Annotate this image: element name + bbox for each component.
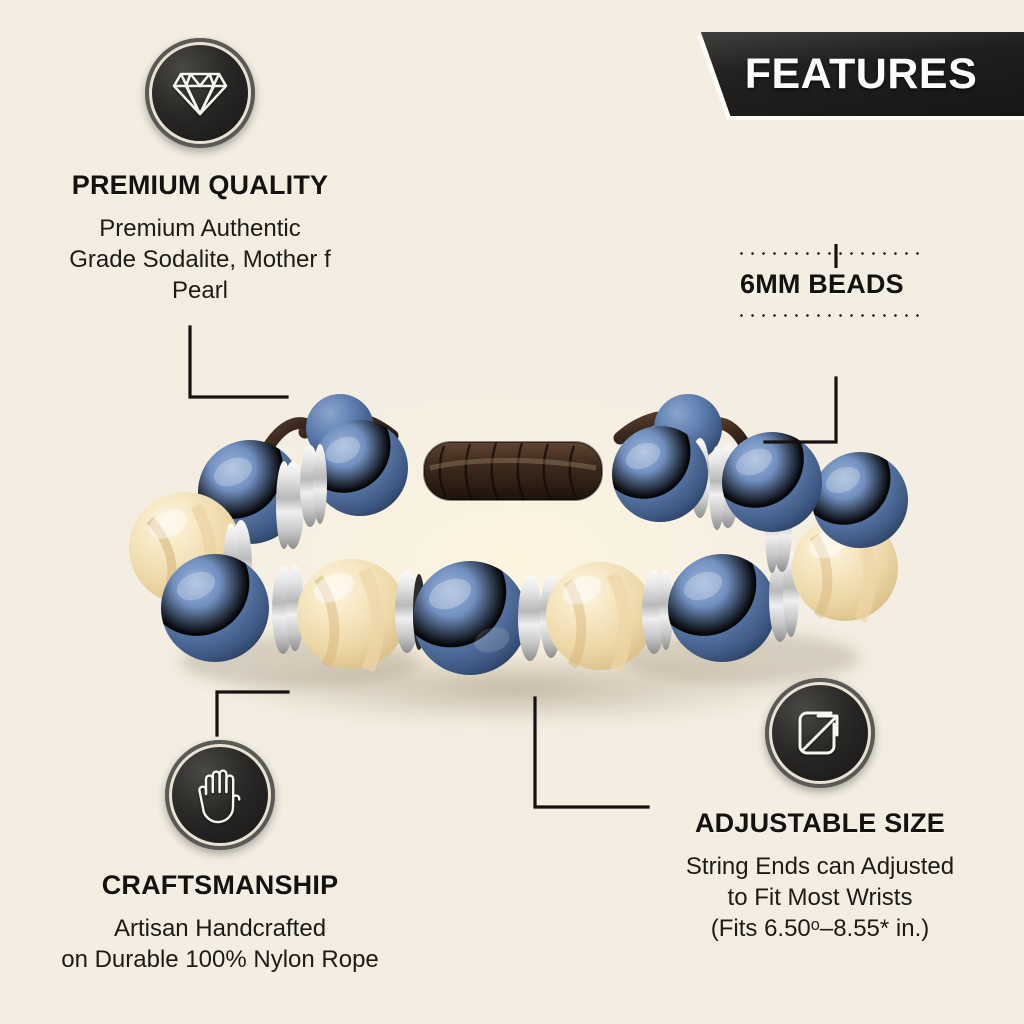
feature-craftsmanship-title: CRAFTSMANSHIP: [0, 870, 440, 901]
feature-premium-quality: PREMIUM QUALITY Premium Authentic Grade …: [0, 38, 400, 307]
feature-beads-title: 6MM BEADS: [740, 269, 956, 300]
bracelet-beads: [129, 420, 908, 675]
features-banner: FEATURES: [672, 32, 1024, 116]
feature-craftsmanship: CRAFTSMANSHIP Artisan Handcrafted on Dur…: [0, 740, 440, 975]
feature-adjustable-body: String Ends can Adjusted to Fit Most Wri…: [616, 851, 1024, 945]
connector-craftsmanship: [217, 692, 288, 735]
infographic-canvas: FEATURES PREMIUM QUALITY Premium Authent…: [0, 0, 1024, 1024]
feature-adjustable-title: ADJUSTABLE SIZE: [616, 808, 1024, 839]
macrame-knot: [424, 442, 602, 500]
connector-beads: [765, 378, 836, 442]
feature-craftsmanship-body: Artisan Handcrafted on Durable 100% Nylo…: [0, 913, 440, 975]
hand-icon: [165, 740, 275, 850]
feature-premium-title: PREMIUM QUALITY: [0, 170, 400, 201]
banner-title: FEATURES: [672, 32, 1024, 116]
dotted-rule-bottom: [736, 314, 922, 317]
dotted-rule-top: [736, 252, 922, 255]
feature-adjustable-size: ADJUSTABLE SIZE String Ends can Adjusted…: [616, 678, 1024, 945]
feature-premium-body: Premium Authentic Grade Sodalite, Mother…: [0, 213, 400, 307]
diamond-icon: [145, 38, 255, 148]
feature-bead-size: 6MM BEADS: [736, 252, 956, 317]
expand-arrow-icon: [765, 678, 875, 788]
connector-premium: [190, 327, 287, 397]
